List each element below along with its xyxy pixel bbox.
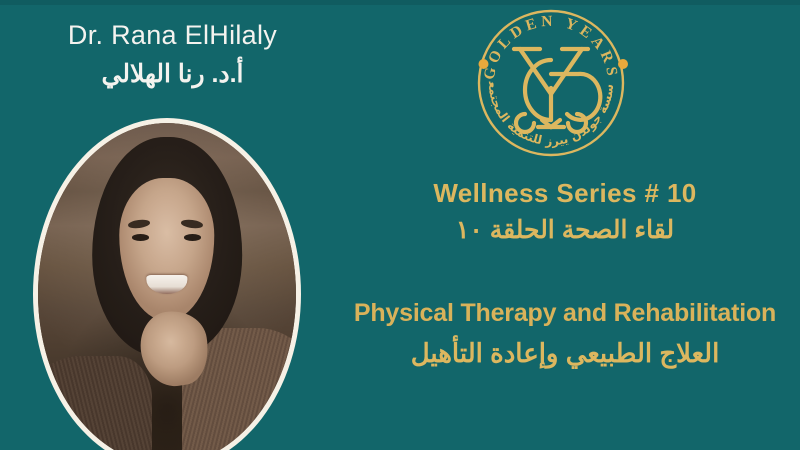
topic-title-english: Physical Therapy and Rehabilitation — [330, 298, 800, 328]
webinar-announcement-slide: Dr. Rana ElHilaly أ.د. رنا الهلالي — [0, 0, 800, 450]
portrait-oval-frame — [33, 118, 301, 450]
portrait-eye-left — [132, 234, 149, 240]
speaker-name-block: Dr. Rana ElHilaly أ.د. رنا الهلالي — [0, 20, 345, 92]
speaker-portrait — [33, 118, 301, 450]
topic-title-arabic: العلاج الطبيعي وإعادة التأهيل — [330, 334, 800, 373]
golden-years-logo: GOLDEN YEARS مؤسسة جولدن ييرز للتنمية ال… — [470, 2, 632, 164]
logo-dot-right — [618, 59, 628, 69]
series-title-english: Wellness Series # 10 — [330, 178, 800, 210]
top-edge-band — [0, 0, 800, 5]
portrait-eye-right — [184, 234, 201, 240]
logo-outer-ring — [479, 11, 623, 155]
session-info-column: Wellness Series # 10 لقاء الصحة الحلقة ١… — [330, 178, 800, 373]
portrait-photo — [38, 123, 296, 450]
logo-monogram-yg — [514, 49, 600, 132]
speaker-name-arabic: أ.د. رنا الهلالي — [0, 56, 345, 92]
speaker-name-english: Dr. Rana ElHilaly — [0, 20, 345, 52]
portrait-shoulder-left — [33, 356, 152, 450]
series-title-arabic: لقاء الصحة الحلقة ١٠ — [330, 212, 800, 250]
logo-dot-left — [479, 59, 489, 69]
logo-top-text: GOLDEN YEARS — [481, 13, 621, 81]
